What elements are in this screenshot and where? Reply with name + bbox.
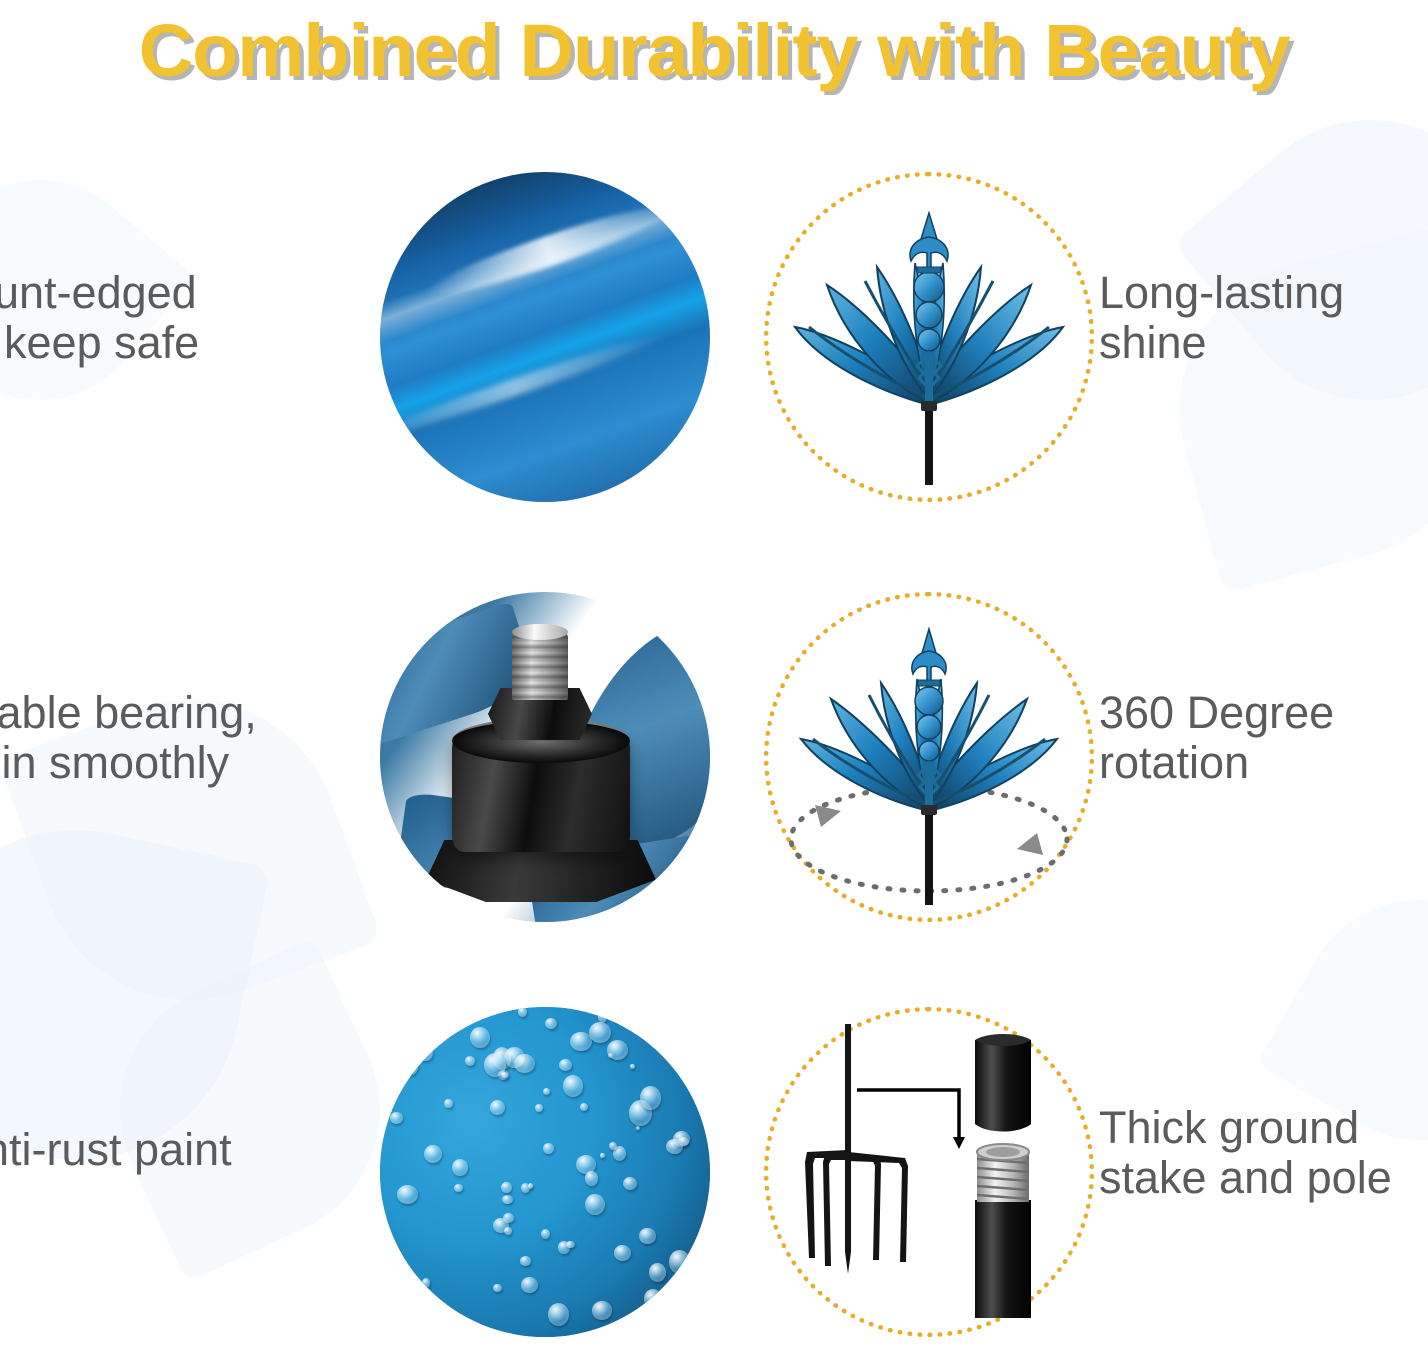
bolt-cap [512,624,568,640]
water-droplet [649,1263,666,1282]
feature-long-lasting-shine: Long-lasting shine [714,140,1428,530]
water-droplet [630,1064,635,1069]
feature-thick-ground-stake: Thick ground stake and pole [714,975,1428,1365]
feature-label-thick-ground-stake: Thick ground stake and pole [1099,1103,1428,1204]
callout-line [857,1090,959,1145]
water-droplet [623,1177,637,1190]
feature-label-anti-rust-paint: Anti-rust paint [0,1125,374,1175]
water-droplet [490,1100,505,1115]
water-droplet [644,1289,662,1309]
page-title: Combined Durability with Beauty [138,8,1289,93]
water-droplet [585,1171,598,1186]
media-circle-bearing [380,592,710,922]
water-droplet [541,1229,550,1239]
water-droplet [563,1075,583,1097]
water-droplet [589,1022,611,1043]
water-droplet [669,1250,690,1274]
water-droplet [640,1086,661,1110]
water-droplet [639,1228,655,1245]
water-photo-clip [380,1007,710,1337]
water-droplet [545,1018,557,1029]
water-droplet [548,1303,569,1326]
water-droplet [592,1301,612,1319]
water-droplet [600,1153,605,1158]
water-droplet [636,1126,641,1130]
blade-highlight [422,194,678,307]
water-droplet [614,1245,631,1260]
water-droplet [410,1008,429,1027]
water-droplet [390,1112,403,1124]
water-droplet [521,1277,538,1293]
feature-row-2: Stable bearing, spin smoothly [0,560,1428,950]
callout-arrowhead [953,1137,965,1149]
water-droplet [454,1184,463,1192]
water-droplet [403,1301,408,1306]
ground-stake-icon [769,1012,1089,1332]
water-droplet [502,1195,512,1204]
media-circle-stake [764,1007,1094,1337]
water-droplet [666,1139,683,1153]
feature-row-3: Anti-rust paint [0,975,1428,1365]
media-circle-water [380,1007,710,1337]
water-droplet [528,1183,533,1189]
water-droplet [543,1088,550,1095]
media-circle-spinner [764,172,1094,502]
water-droplet [676,1314,680,1318]
feature-stable-bearing: Stable bearing, spin smoothly [0,560,714,950]
feature-label-360-rotation: 360 Degree rotation [1099,688,1428,789]
feature-label-blunt-edged: Blunt-edged to keep safe [0,268,374,369]
bearing-photo-clip [380,592,710,922]
water-droplet [585,1194,605,1216]
feature-row-1: Blunt-edged to keep safe [0,140,1428,530]
water-droplet [501,1072,508,1078]
stake-prong [848,1152,881,1260]
feature-label-long-lasting-shine: Long-lasting shine [1099,268,1428,369]
feature-label-stable-bearing: Stable bearing, spin smoothly [0,688,374,789]
water-droplet [501,1182,512,1194]
water-droplet [520,1256,531,1266]
feature-anti-rust-paint: Anti-rust paint [0,975,714,1365]
blade-photo [380,172,710,502]
rotation-arrow-left [815,805,841,827]
pole-upper-segment [975,1034,1031,1132]
water-droplet [422,1278,430,1288]
water-droplet [418,1045,433,1062]
water-droplet [444,1099,452,1108]
water-droplet [465,1056,475,1066]
water-droplet [651,1014,670,1033]
water-droplet [452,1159,468,1176]
water-droplet [614,1017,619,1022]
water-droplet [566,1241,575,1248]
page-title-bar: Combined Durability with Beauty [0,0,1428,100]
water-droplet [598,1011,607,1022]
water-droplet [518,1007,527,1016]
water-droplet [607,1040,628,1059]
water-droplet-photo [380,1007,710,1337]
water-droplet [580,1103,588,1112]
water-droplet [559,1059,573,1071]
water-droplet [397,1185,418,1204]
threaded-bolt [512,630,568,700]
water-droplet [382,1082,392,1092]
water-droplet [514,1054,535,1073]
pole-lower-segment [975,1144,1031,1318]
water-droplet [543,1143,554,1154]
feature-360-rotation: 360 Degree rotation [714,560,1428,950]
water-droplet [535,1104,543,1112]
water-droplet [470,1027,489,1048]
blade-photo-clip [380,172,710,502]
wind-spinner-rotation-icon [769,597,1089,917]
stake-prong [823,1150,848,1266]
media-circle-rotation [764,592,1094,922]
blade-highlight [380,329,665,447]
bearing-photo [380,592,710,922]
wind-spinner-icon [769,177,1089,497]
water-droplet [396,1053,404,1061]
rotation-arrow-right [1017,833,1043,855]
media-circle-blade [380,172,710,502]
water-droplet [404,1058,418,1075]
water-droplet [504,1227,512,1235]
water-droplet [424,1145,442,1163]
water-droplet [493,1284,502,1292]
stake-center-spike [845,1024,851,1274]
feature-blunt-edged: Blunt-edged to keep safe [0,140,714,530]
